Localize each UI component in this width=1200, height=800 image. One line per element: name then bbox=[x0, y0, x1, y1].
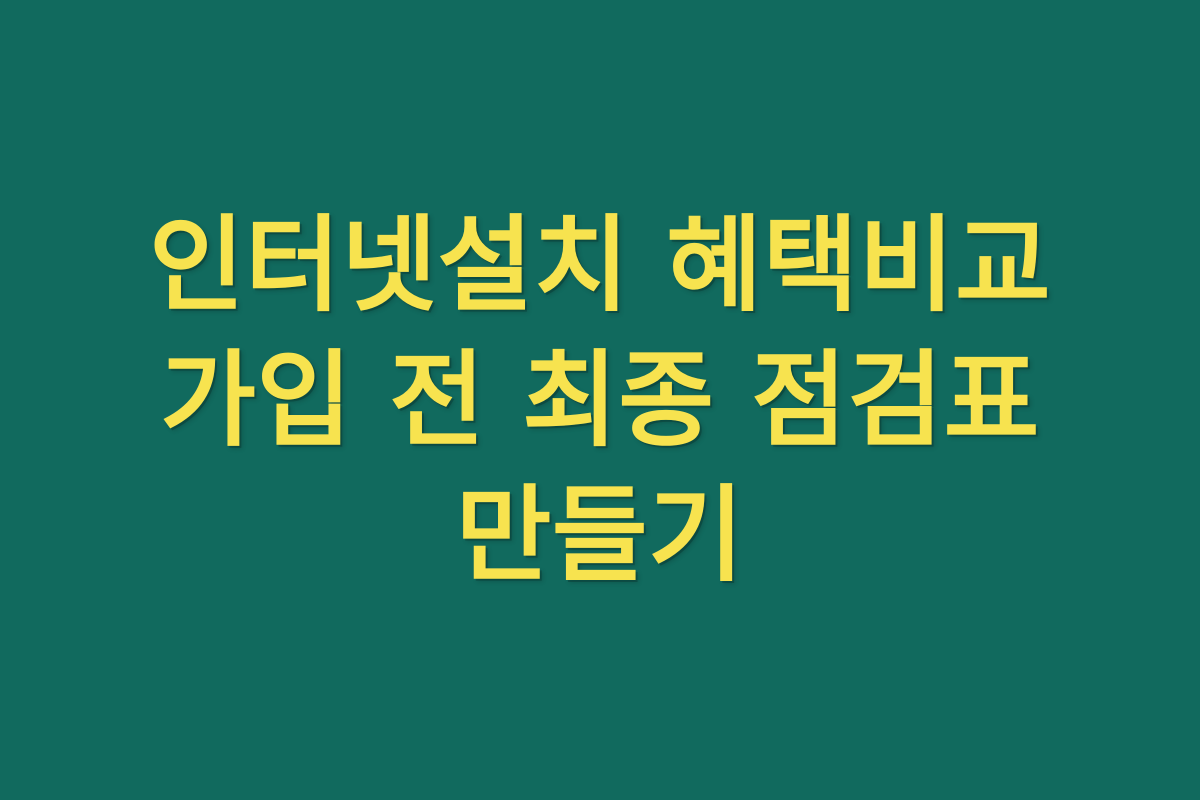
banner-text-container: 인터넷설치 혜택비교 가입 전 최종 점검표 만들기 bbox=[100, 198, 1100, 603]
banner-canvas: 인터넷설치 혜택비교 가입 전 최종 점검표 만들기 bbox=[0, 0, 1200, 800]
banner-title: 인터넷설치 혜택비교 가입 전 최종 점검표 만들기 bbox=[100, 198, 1100, 603]
